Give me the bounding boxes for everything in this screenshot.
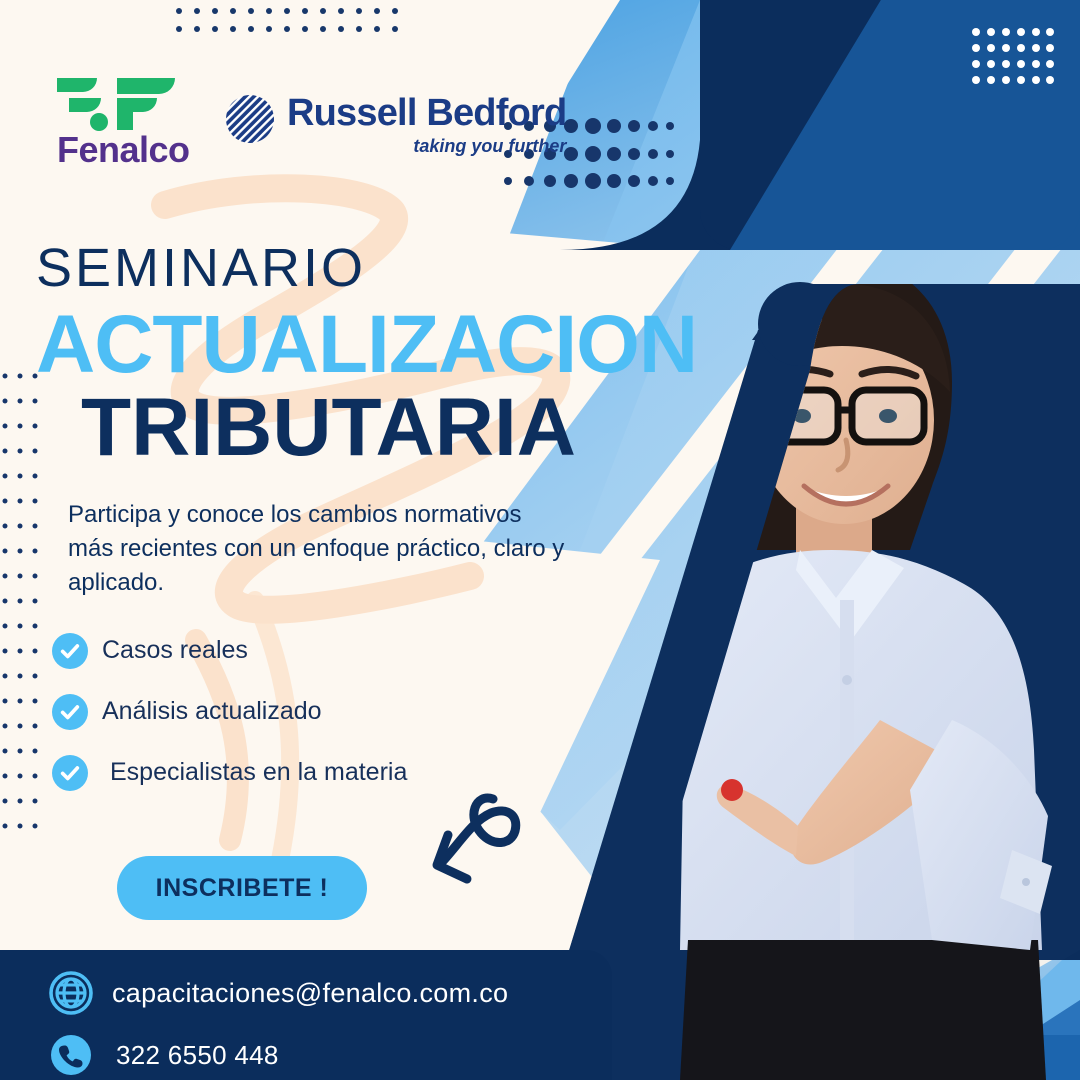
russell-bedford-tagline: taking you further [413, 136, 566, 157]
globe-icon [48, 970, 94, 1016]
contact-email-text: capacitaciones@fenalco.com.co [112, 978, 508, 1009]
check-circle-icon [52, 755, 88, 791]
description-text: Participa y conoce los cambios normativo… [68, 498, 568, 600]
headline-block: SEMINARIO ACTUALIZACION TRIBUTARIA [36, 240, 686, 471]
contact-phone-text: 322 6550 448 [116, 1040, 279, 1071]
list-item-label: Análisis actualizado [102, 697, 322, 726]
dot-grid-top [175, 6, 415, 40]
list-item: Análisis actualizado [52, 681, 407, 742]
check-circle-icon [52, 694, 88, 730]
list-item: Especialistas en la materia [52, 742, 407, 803]
russell-bedford-striped-circle-icon [225, 94, 275, 144]
phone-icon [48, 1032, 94, 1078]
promo-poster: Fenalco Russell Bedford taking you furth… [0, 0, 1080, 1080]
list-item: Casos reales [52, 620, 407, 681]
headline-line-1: ACTUALIZACION [36, 301, 686, 390]
curly-arrow-icon [415, 783, 580, 908]
fenalco-wordmark: Fenalco [57, 132, 185, 168]
russell-bedford-logo: Russell Bedford taking you further [225, 94, 566, 157]
headline-line-2: TRIBUTARIA [36, 385, 621, 471]
contact-footer: capacitaciones@fenalco.com.co 322 6550 4… [0, 950, 612, 1080]
register-button[interactable]: INSCRIBETE ! [117, 856, 367, 920]
list-item-label: Casos reales [102, 636, 248, 665]
dot-grid-top-right [972, 28, 1054, 84]
logo-row: Fenalco Russell Bedford taking you furth… [55, 72, 566, 168]
list-item-label: Especialistas en la materia [110, 758, 407, 787]
contact-phone-row[interactable]: 322 6550 448 [48, 1032, 279, 1078]
feature-list: Casos reales Análisis actualizado Especi… [52, 620, 407, 803]
headline-kicker: SEMINARIO [36, 240, 686, 297]
russell-bedford-text: Russell Bedford taking you further [287, 94, 566, 157]
contact-email-row[interactable]: capacitaciones@fenalco.com.co [48, 970, 508, 1016]
russell-bedford-name: Russell Bedford [287, 94, 566, 132]
check-circle-icon [52, 633, 88, 669]
fenalco-wing-icon [55, 72, 177, 134]
fenalco-logo: Fenalco [55, 72, 185, 168]
